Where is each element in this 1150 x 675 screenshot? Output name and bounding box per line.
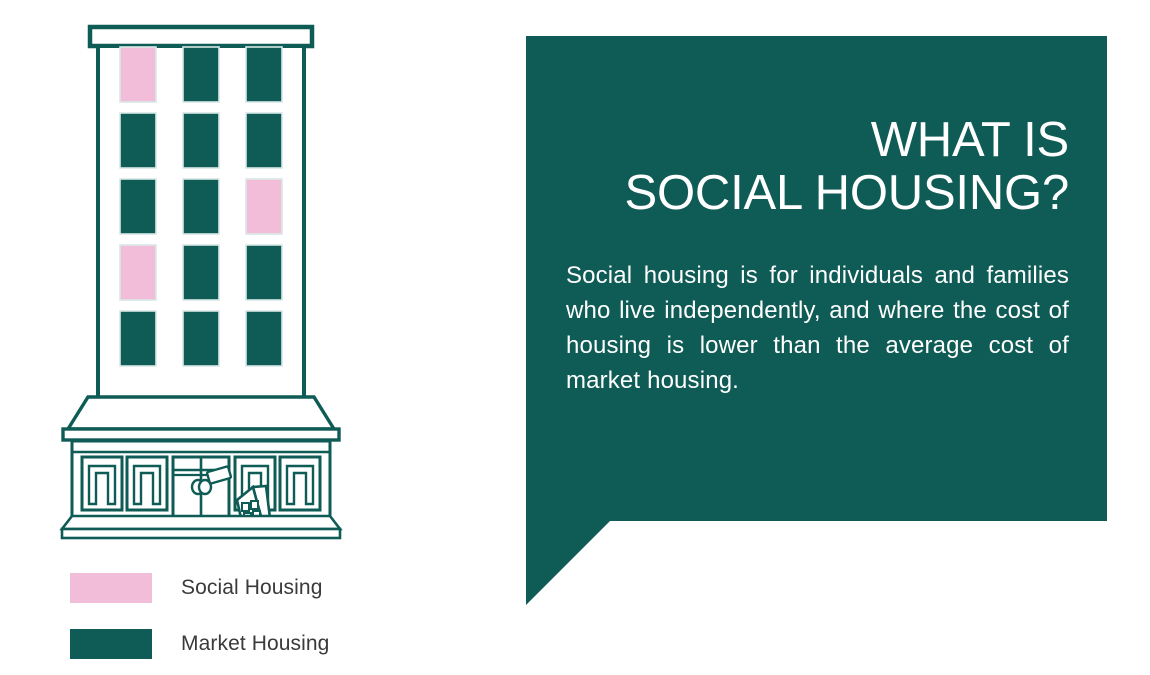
legend-swatch-market-housing: [70, 629, 152, 659]
speech-bubble-content: WHAT IS SOCIAL HOUSING? Social housing i…: [526, 36, 1107, 521]
legend-label-market-housing: Market Housing: [181, 632, 329, 656]
building-roof: [90, 27, 312, 46]
storefront-window-right-2: [280, 457, 320, 510]
window-unit-row-2: [120, 113, 282, 168]
window-unit-market: [183, 179, 219, 234]
window-unit-social: [120, 245, 156, 300]
window-unit-market: [183, 113, 219, 168]
window-unit-market: [246, 311, 282, 366]
window-unit-market: [246, 245, 282, 300]
window-unit-market: [183, 47, 219, 102]
window-unit-social: [120, 47, 156, 102]
speech-bubble: WHAT IS SOCIAL HOUSING? Social housing i…: [526, 36, 1107, 521]
body-paragraph: Social housing is for individuals and fa…: [566, 258, 1069, 398]
apartment-building-illustration: [0, 0, 430, 560]
legend-item-market-housing: Market Housing: [70, 616, 450, 672]
window-unit-market: [120, 113, 156, 168]
page-title: WHAT IS SOCIAL HOUSING?: [566, 114, 1069, 220]
window-unit-market: [120, 179, 156, 234]
legend-swatch-social-housing: [70, 573, 152, 603]
window-unit-market: [246, 47, 282, 102]
window-unit-social: [246, 179, 282, 234]
window-unit-row-5: [120, 311, 282, 366]
window-unit-market: [183, 245, 219, 300]
storefront-awning: [63, 397, 339, 440]
speech-bubble-tail: [526, 521, 610, 605]
window-unit-row-4: [120, 245, 282, 300]
legend-label-social-housing: Social Housing: [181, 576, 322, 600]
window-unit-market: [120, 311, 156, 366]
storefront-base-plinth: [62, 516, 340, 538]
infographic-canvas: Social Housing Market Housing WHAT IS SO…: [0, 0, 1150, 675]
window-unit-row-1: [120, 47, 282, 102]
window-unit-market: [183, 311, 219, 366]
legend: Social Housing Market Housing: [70, 560, 450, 672]
storefront-window-left-1: [82, 457, 122, 510]
legend-item-social-housing: Social Housing: [70, 560, 450, 616]
window-unit-row-3: [120, 179, 282, 234]
storefront-window-left-2: [127, 457, 167, 510]
window-unit-market: [246, 113, 282, 168]
storefront-entrance-door: [173, 457, 231, 517]
